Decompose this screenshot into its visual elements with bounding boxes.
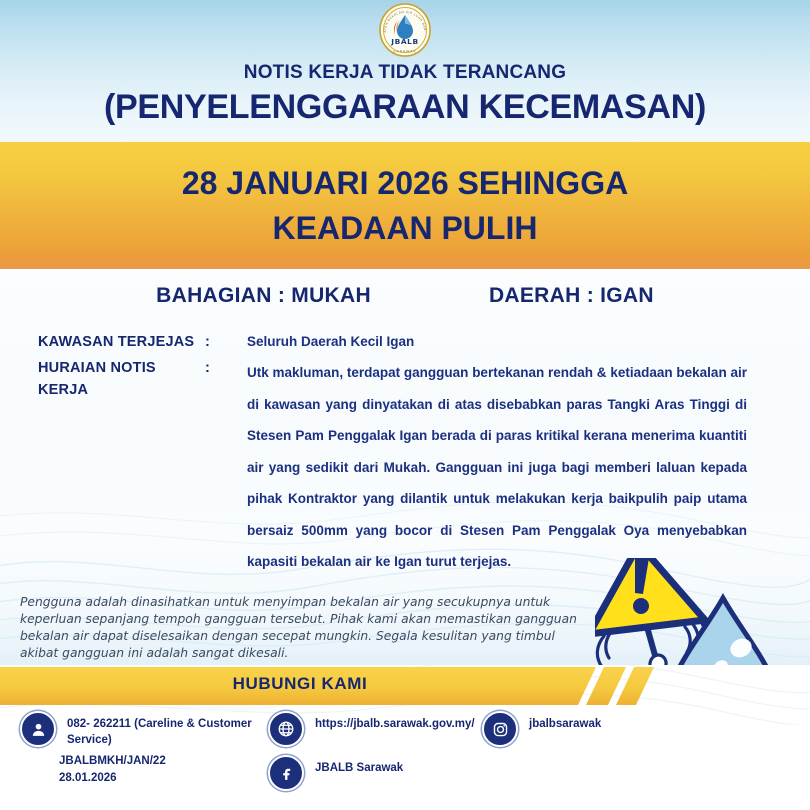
globe-icon <box>268 711 304 747</box>
affected-area-colon: : <box>205 331 247 353</box>
notice-poster: JBALB SARAWAK JABATAN BEKALAN AIR LUAR B… <box>0 0 810 810</box>
svg-text:SARAWAK: SARAWAK <box>393 50 417 54</box>
field-affected-area: KAWASAN TERJEJAS : Seluruh Daerah Kecil … <box>0 331 810 353</box>
contact-facebook[interactable]: JBALB Sarawak <box>268 755 498 791</box>
poster-header: JBALB SARAWAK JABATAN BEKALAN AIR LUAR B… <box>0 0 810 142</box>
work-description-value: Utk makluman, terdapat gangguan bertekan… <box>247 357 747 578</box>
contact-phone-text: 082- 262211 (Careline & Customer Service… <box>67 711 270 748</box>
scope-row: BAHAGIAN : MUKAH DAERAH : IGAN <box>0 284 810 308</box>
contact-website[interactable]: https://jbalb.sarawak.gov.my/ <box>268 711 498 747</box>
person-icon <box>20 711 56 747</box>
svg-text:JBALB: JBALB <box>390 37 418 46</box>
notice-kicker: NOTIS KERJA TIDAK TERANCANG <box>0 62 810 84</box>
instagram-icon <box>482 711 518 747</box>
reference-number: JBALBMKH/JAN/22 <box>59 753 166 770</box>
work-description-colon: : <box>205 357 247 379</box>
affected-area-value: Seluruh Daerah Kecil Igan <box>247 331 747 353</box>
disclaimer-text: Pengguna adalah dinasihatkan untuk menyi… <box>20 594 580 662</box>
jbalb-logo: JBALB SARAWAK JABATAN BEKALAN AIR LUAR B… <box>377 2 433 58</box>
contact-list: 082- 262211 (Careline & Customer Service… <box>0 705 810 810</box>
contact-banner-title: HUBUNGI KAMI <box>0 674 600 694</box>
contact-website-text: https://jbalb.sarawak.gov.my/ <box>315 711 475 733</box>
contact-phone[interactable]: 082- 262211 (Careline & Customer Service… <box>20 711 270 748</box>
reference-date: 28.01.2026 <box>59 770 166 787</box>
page-title: (PENYELENGGARAAN KECEMASAN) <box>0 88 810 127</box>
reference-block: JBALBMKH/JAN/22 28.01.2026 <box>59 753 166 787</box>
contact-facebook-text: JBALB Sarawak <box>315 755 403 777</box>
contact-banner: HUBUNGI KAMI <box>0 665 810 707</box>
poster-footer: HUBUNGI KAMI 082- 262211 (Careline & Cus… <box>0 665 810 810</box>
date-band: 28 JANUARI 2026 SEHINGGA KEADAAN PULIH <box>0 142 810 269</box>
district-label: DAERAH : IGAN <box>489 284 654 308</box>
facebook-icon <box>268 755 304 791</box>
contact-instagram-text: jbalbsarawak <box>529 711 601 733</box>
division-label: BAHAGIAN : MUKAH <box>156 284 371 308</box>
field-work-description: HURAIAN NOTIS KERJA : Utk makluman, terd… <box>0 357 810 578</box>
date-line-1: 28 JANUARI 2026 SEHINGGA <box>182 161 628 205</box>
work-description-label: HURAIAN NOTIS KERJA <box>0 357 205 401</box>
contact-instagram[interactable]: jbalbsarawak <box>482 711 682 747</box>
date-line-2: KEADAAN PULIH <box>273 206 538 250</box>
fields-list: KAWASAN TERJEJAS : Seluruh Daerah Kecil … <box>0 331 810 582</box>
affected-area-label: KAWASAN TERJEJAS <box>0 331 205 353</box>
